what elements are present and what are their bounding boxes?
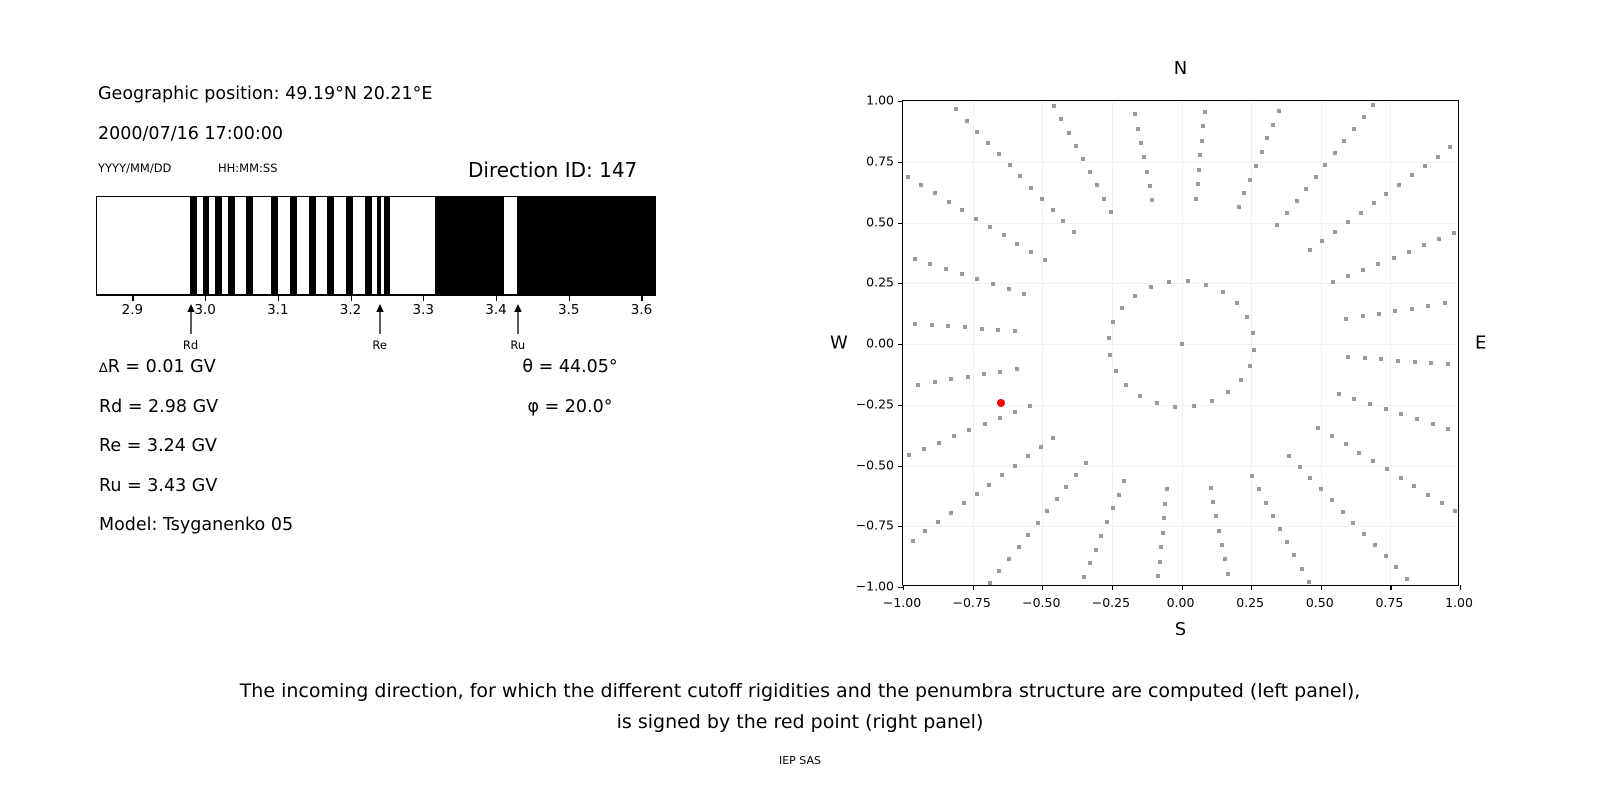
direction-point [1316, 426, 1320, 430]
figure-caption: The incoming direction, for which the di… [0, 676, 1600, 738]
direction-point [1250, 474, 1254, 478]
direction-point [1330, 498, 1334, 502]
direction-point [1061, 219, 1065, 223]
penumbra-forbidden-band [346, 197, 353, 294]
penumbra-marker-label-rd: Rd [183, 338, 198, 352]
angle-parameter-line: θ = 44.05° [522, 357, 617, 377]
direction-point [1429, 361, 1433, 365]
grid-line-horizontal [903, 162, 1458, 163]
y-axis-tick [898, 344, 903, 345]
direction-point [928, 262, 932, 266]
direction-point [1173, 405, 1177, 409]
direction-point [983, 422, 987, 426]
direction-point [1055, 497, 1059, 501]
penumbra-axis-tick-label: 3.3 [413, 302, 434, 318]
direction-point [962, 501, 966, 505]
direction-point [1394, 565, 1398, 569]
direction-point [1102, 197, 1106, 201]
penumbra-axis-tick [641, 296, 642, 301]
direction-point [1017, 545, 1021, 549]
direction-point [1210, 399, 1214, 403]
direction-point [1155, 401, 1159, 405]
y-axis-tick [898, 223, 903, 224]
direction-point [1239, 378, 1243, 382]
direction-point [1167, 280, 1171, 284]
direction-point [954, 107, 958, 111]
datetime-label: 2000/07/16 17:00:00 [98, 124, 283, 144]
direction-point [1204, 283, 1208, 287]
direction-point [1022, 292, 1026, 296]
direction-point [1314, 175, 1318, 179]
direction-point [1384, 192, 1388, 196]
x-axis-tick [1390, 585, 1391, 590]
penumbra-axis-tick-label: 3.4 [485, 302, 506, 318]
direction-point [1000, 473, 1004, 477]
x-axis-tick [973, 585, 974, 590]
direction-point [1407, 250, 1411, 254]
direction-point [1341, 510, 1345, 514]
direction-point [1271, 123, 1275, 127]
penumbra-marker-label-re: Re [372, 338, 387, 352]
penumbra-bar [96, 196, 656, 295]
direction-point [960, 208, 964, 212]
grid-line-vertical [973, 101, 974, 585]
direction-point [1013, 329, 1017, 333]
x-axis-tick-label: 0.50 [1306, 595, 1334, 610]
y-axis-tick-label: 0.50 [844, 214, 894, 229]
direction-point [975, 130, 979, 134]
direction-point [998, 370, 1002, 374]
direction-point [998, 416, 1002, 420]
direction-point [1111, 506, 1115, 510]
y-axis-tick [898, 405, 903, 406]
direction-point [1139, 141, 1143, 145]
direction-point [1084, 461, 1088, 465]
penumbra-forbidden-band [215, 197, 222, 294]
direction-point [1145, 170, 1149, 174]
direction-point [1117, 493, 1121, 497]
x-axis-tick-label: 0.25 [1236, 595, 1264, 610]
grid-line-vertical [1112, 101, 1113, 585]
direction-point [933, 191, 937, 195]
direction-point [1415, 417, 1419, 421]
direction-point [923, 529, 927, 533]
direction-point [1162, 516, 1166, 520]
direction-point [1120, 306, 1124, 310]
direction-point [1379, 357, 1383, 361]
direction-point [1363, 356, 1367, 360]
x-axis-tick-label: −0.25 [1092, 595, 1130, 610]
direction-point [1136, 127, 1140, 131]
direction-id-label: Direction ID: 147 [468, 158, 637, 182]
direction-point [1029, 186, 1033, 190]
direction-point [913, 257, 917, 261]
grid-line-horizontal [903, 526, 1458, 527]
penumbra-axis-tick [132, 296, 133, 301]
direction-point [911, 539, 915, 543]
y-axis-tick-label: 1.00 [844, 93, 894, 108]
direction-point [1242, 191, 1246, 195]
y-axis-tick [898, 101, 903, 102]
x-axis-tick [1182, 585, 1183, 590]
direction-point [988, 225, 992, 229]
direction-point [1064, 485, 1068, 489]
compass-south-label: S [1175, 619, 1186, 640]
direction-point [1226, 572, 1230, 576]
direction-point [933, 380, 937, 384]
x-axis-tick-label: −1.00 [883, 595, 921, 610]
penumbra-forbidden-band [271, 197, 278, 294]
direction-point [1385, 467, 1389, 471]
direction-point [1298, 465, 1302, 469]
penumbra-axis-tick-label: 3.6 [631, 302, 652, 318]
x-axis-tick [903, 585, 904, 590]
compass-east-label: E [1475, 333, 1486, 354]
direction-point [1180, 342, 1184, 346]
direction-point [1397, 183, 1401, 187]
direction-point [1440, 501, 1444, 505]
direction-point [1368, 402, 1372, 406]
y-axis-tick-label: −0.75 [844, 518, 894, 533]
direction-point [1107, 336, 1111, 340]
direction-point [1029, 250, 1033, 254]
grid-line-horizontal [903, 223, 1458, 224]
direction-point [944, 267, 948, 271]
direction-point [1114, 369, 1118, 373]
direction-point [1039, 445, 1043, 449]
direction-point [1108, 353, 1112, 357]
direction-point [1393, 309, 1397, 313]
direction-point [1226, 390, 1230, 394]
direction-point [1124, 383, 1128, 387]
direction-point [1346, 220, 1350, 224]
direction-point [1186, 279, 1190, 283]
direction-point [1337, 392, 1341, 396]
direction-point [1072, 230, 1076, 234]
x-axis-tick-label: −0.50 [1022, 595, 1060, 610]
direction-point [1257, 487, 1261, 491]
direction-point [919, 183, 923, 187]
direction-point [982, 372, 986, 376]
direction-point [1122, 479, 1126, 483]
direction-point [1361, 268, 1365, 272]
direction-point [987, 483, 991, 487]
direction-plot-frame [902, 100, 1459, 586]
direction-point [1165, 487, 1169, 491]
direction-point [996, 328, 1000, 332]
direction-point [1099, 534, 1103, 538]
parameter-line: Model: Tsyganenko 05 [99, 515, 293, 535]
direction-point [1043, 258, 1047, 262]
penumbra-axis-tick [278, 296, 279, 301]
direction-point [1264, 501, 1268, 505]
direction-point [1260, 150, 1264, 154]
x-axis-tick [1321, 585, 1322, 590]
compass-north-label: N [1174, 58, 1187, 79]
y-axis-tick-label: −0.50 [844, 457, 894, 472]
x-axis-tick [1251, 585, 1252, 590]
parameter-line: Rd = 2.98 GV [99, 397, 218, 417]
direction-point [922, 447, 926, 451]
direction-point [1203, 110, 1207, 114]
direction-point [1453, 509, 1457, 513]
penumbra-axis-tick-label: 3.0 [194, 302, 215, 318]
direction-point [1405, 577, 1409, 581]
direction-point [906, 175, 910, 179]
direction-point [1133, 294, 1137, 298]
x-axis-tick [1112, 585, 1113, 590]
penumbra-forbidden-band [228, 197, 235, 294]
direction-point [1237, 205, 1241, 209]
penumbra-forbidden-band [384, 197, 391, 294]
direction-point [1323, 163, 1327, 167]
parameter-line: ∆R = 0.01 GV [99, 357, 216, 377]
direction-point [963, 325, 967, 329]
penumbra-forbidden-band [246, 197, 253, 294]
direction-point [1194, 197, 1198, 201]
direction-point [965, 119, 969, 123]
direction-point [1007, 557, 1011, 561]
direction-point [1088, 561, 1092, 565]
direction-point [1346, 274, 1350, 278]
direction-point [930, 323, 934, 327]
penumbra-marker-label-ru: Ru [510, 338, 525, 352]
direction-point [1431, 422, 1435, 426]
angle-parameter-line: φ = 20.0° [527, 397, 612, 417]
direction-point [947, 200, 951, 204]
y-axis-tick-label: 0.75 [844, 153, 894, 168]
direction-point [1159, 545, 1163, 549]
date-format-hint: YYYY/MM/DD [98, 161, 171, 175]
direction-point [1142, 155, 1146, 159]
direction-point [1197, 168, 1201, 172]
direction-point [1422, 243, 1426, 247]
direction-point [974, 217, 978, 221]
direction-point [1223, 557, 1227, 561]
y-axis-tick [898, 162, 903, 163]
direction-point [1138, 394, 1142, 398]
direction-point [1251, 331, 1255, 335]
direction-point [1344, 442, 1348, 446]
y-axis-tick-label: −1.00 [844, 579, 894, 594]
x-axis-tick-label: 0.75 [1375, 595, 1403, 610]
direction-point [1437, 237, 1441, 241]
direction-point [1235, 301, 1239, 305]
penumbra-forbidden-band [517, 197, 656, 294]
grid-line-vertical [1042, 101, 1043, 585]
penumbra-forbidden-band [203, 197, 210, 294]
direction-point [1413, 360, 1417, 364]
direction-point [1254, 164, 1258, 168]
penumbra-forbidden-band [435, 197, 504, 294]
direction-point [1362, 115, 1366, 119]
penumbra-axis-tick-label: 3.1 [267, 302, 288, 318]
direction-point [1331, 280, 1335, 284]
direction-point [1074, 144, 1078, 148]
penumbra-axis-tick [569, 296, 570, 301]
direction-point [1352, 127, 1356, 131]
y-axis-tick-label: −0.25 [844, 396, 894, 411]
direction-point [1002, 233, 1006, 237]
direction-point [1357, 451, 1361, 455]
direction-point [1221, 290, 1225, 294]
penumbra-axis-tick-label: 3.2 [340, 302, 361, 318]
direction-point [1359, 211, 1363, 215]
direction-point [1198, 153, 1202, 157]
grid-line-vertical [1390, 101, 1391, 585]
penumbra-axis-tick [351, 296, 352, 301]
direction-point [1372, 201, 1376, 205]
direction-point [1095, 183, 1099, 187]
penumbra-forbidden-band [309, 197, 316, 294]
direction-point [1015, 242, 1019, 246]
x-axis-tick [1460, 585, 1461, 590]
direction-point [1007, 287, 1011, 291]
direction-point [1052, 104, 1056, 108]
direction-point [1346, 355, 1350, 359]
direction-point [997, 569, 1001, 573]
footer-credit: IEP SAS [0, 754, 1600, 767]
direction-point [1410, 307, 1414, 311]
direction-point [949, 377, 953, 381]
direction-point [1248, 364, 1252, 368]
direction-point [913, 322, 917, 326]
direction-point [1277, 109, 1281, 113]
direction-point [1109, 210, 1113, 214]
direction-point [936, 520, 940, 524]
direction-point [997, 152, 1001, 156]
direction-point [1333, 151, 1337, 155]
x-axis-tick-label: 1.00 [1445, 595, 1473, 610]
direction-point [975, 277, 979, 281]
penumbra-marker-arrow-ru [511, 304, 525, 334]
direction-point [1200, 139, 1204, 143]
direction-point [1275, 223, 1279, 227]
direction-point [1051, 208, 1055, 212]
direction-point [1201, 124, 1205, 128]
y-axis-tick-label: 0.00 [844, 336, 894, 351]
direction-point [1285, 211, 1289, 215]
direction-point [1443, 301, 1447, 305]
y-axis-tick [898, 526, 903, 527]
penumbra-forbidden-band [365, 197, 372, 294]
direction-point [1320, 239, 1324, 243]
direction-point [1158, 560, 1162, 564]
direction-point [1436, 155, 1440, 159]
direction-point [949, 511, 953, 515]
direction-panel: N S W E −1.00−0.75−0.50−0.250.000.250.50… [760, 0, 1600, 660]
direction-point [1149, 285, 1153, 289]
parameter-line: Ru = 3.43 GV [99, 476, 217, 496]
time-format-hint: HH:MM:SS [218, 161, 278, 175]
direction-point [1248, 178, 1252, 182]
direction-point [1045, 509, 1049, 513]
direction-point [1245, 315, 1249, 319]
caption-line-2: is signed by the red point (right panel) [0, 707, 1600, 738]
penumbra-marker-arrow-re [373, 304, 387, 334]
direction-point [1265, 136, 1269, 140]
highlighted-direction-point[interactable] [997, 399, 1005, 407]
direction-point [1036, 521, 1040, 525]
direction-point [1026, 533, 1030, 537]
direction-point [1399, 476, 1403, 480]
direction-point [1156, 574, 1160, 578]
grid-line-horizontal [903, 466, 1458, 467]
parameter-text: R = 0.01 GV [108, 357, 216, 377]
direction-point [907, 453, 911, 457]
penumbra-forbidden-band [290, 197, 297, 294]
direction-point [1426, 304, 1430, 308]
x-axis-tick-label: 0.00 [1167, 595, 1195, 610]
delta-symbol: ∆ [99, 361, 108, 376]
direction-point [952, 434, 956, 438]
direction-point [1067, 131, 1071, 135]
direction-point [980, 327, 984, 331]
direction-point [1330, 434, 1334, 438]
direction-point [1399, 412, 1403, 416]
direction-point [1352, 397, 1356, 401]
direction-point [1094, 548, 1098, 552]
direction-point [1410, 173, 1414, 177]
direction-point [1333, 230, 1337, 234]
caption-line-1: The incoming direction, for which the di… [0, 676, 1600, 707]
grid-line-horizontal [903, 405, 1458, 406]
penumbra-x-axis: 2.93.03.13.23.33.43.53.6RdReRu [96, 295, 656, 296]
direction-point [1304, 187, 1308, 191]
penumbra-axis-tick [423, 296, 424, 301]
direction-point [1371, 459, 1375, 463]
direction-point [975, 492, 979, 496]
direction-point [1148, 184, 1152, 188]
direction-point [1161, 531, 1165, 535]
direction-point [1373, 543, 1377, 547]
direction-point [1287, 454, 1291, 458]
direction-point [1271, 514, 1275, 518]
direction-point [937, 441, 941, 445]
x-axis-tick [1042, 585, 1043, 590]
direction-point [1150, 198, 1154, 202]
direction-point [1396, 359, 1400, 363]
parameter-line: Re = 3.24 GV [99, 436, 217, 456]
direction-point [1211, 500, 1215, 504]
y-axis-tick [898, 283, 903, 284]
direction-point [1285, 540, 1289, 544]
direction-point [1308, 248, 1312, 252]
direction-point [1088, 170, 1092, 174]
grid-line-vertical [1251, 101, 1252, 585]
grid-line-horizontal [903, 283, 1458, 284]
direction-point [1308, 476, 1312, 480]
direction-point [1015, 367, 1019, 371]
direction-point [1376, 262, 1380, 266]
penumbra-forbidden-band [327, 197, 334, 294]
penumbra-marker-arrow-rd [184, 304, 198, 334]
direction-point [1059, 117, 1063, 121]
grid-line-vertical [1321, 101, 1322, 585]
penumbra-axis-tick [205, 296, 206, 301]
x-axis-tick-label: −0.75 [952, 595, 990, 610]
direction-point [1013, 464, 1017, 468]
direction-point [966, 375, 970, 379]
direction-point [960, 272, 964, 276]
direction-point [1217, 529, 1221, 533]
direction-point [1163, 502, 1167, 506]
penumbra-forbidden-band [190, 197, 197, 294]
direction-point [1111, 320, 1115, 324]
direction-point [1351, 521, 1355, 525]
direction-point [1295, 199, 1299, 203]
direction-point [1040, 197, 1044, 201]
